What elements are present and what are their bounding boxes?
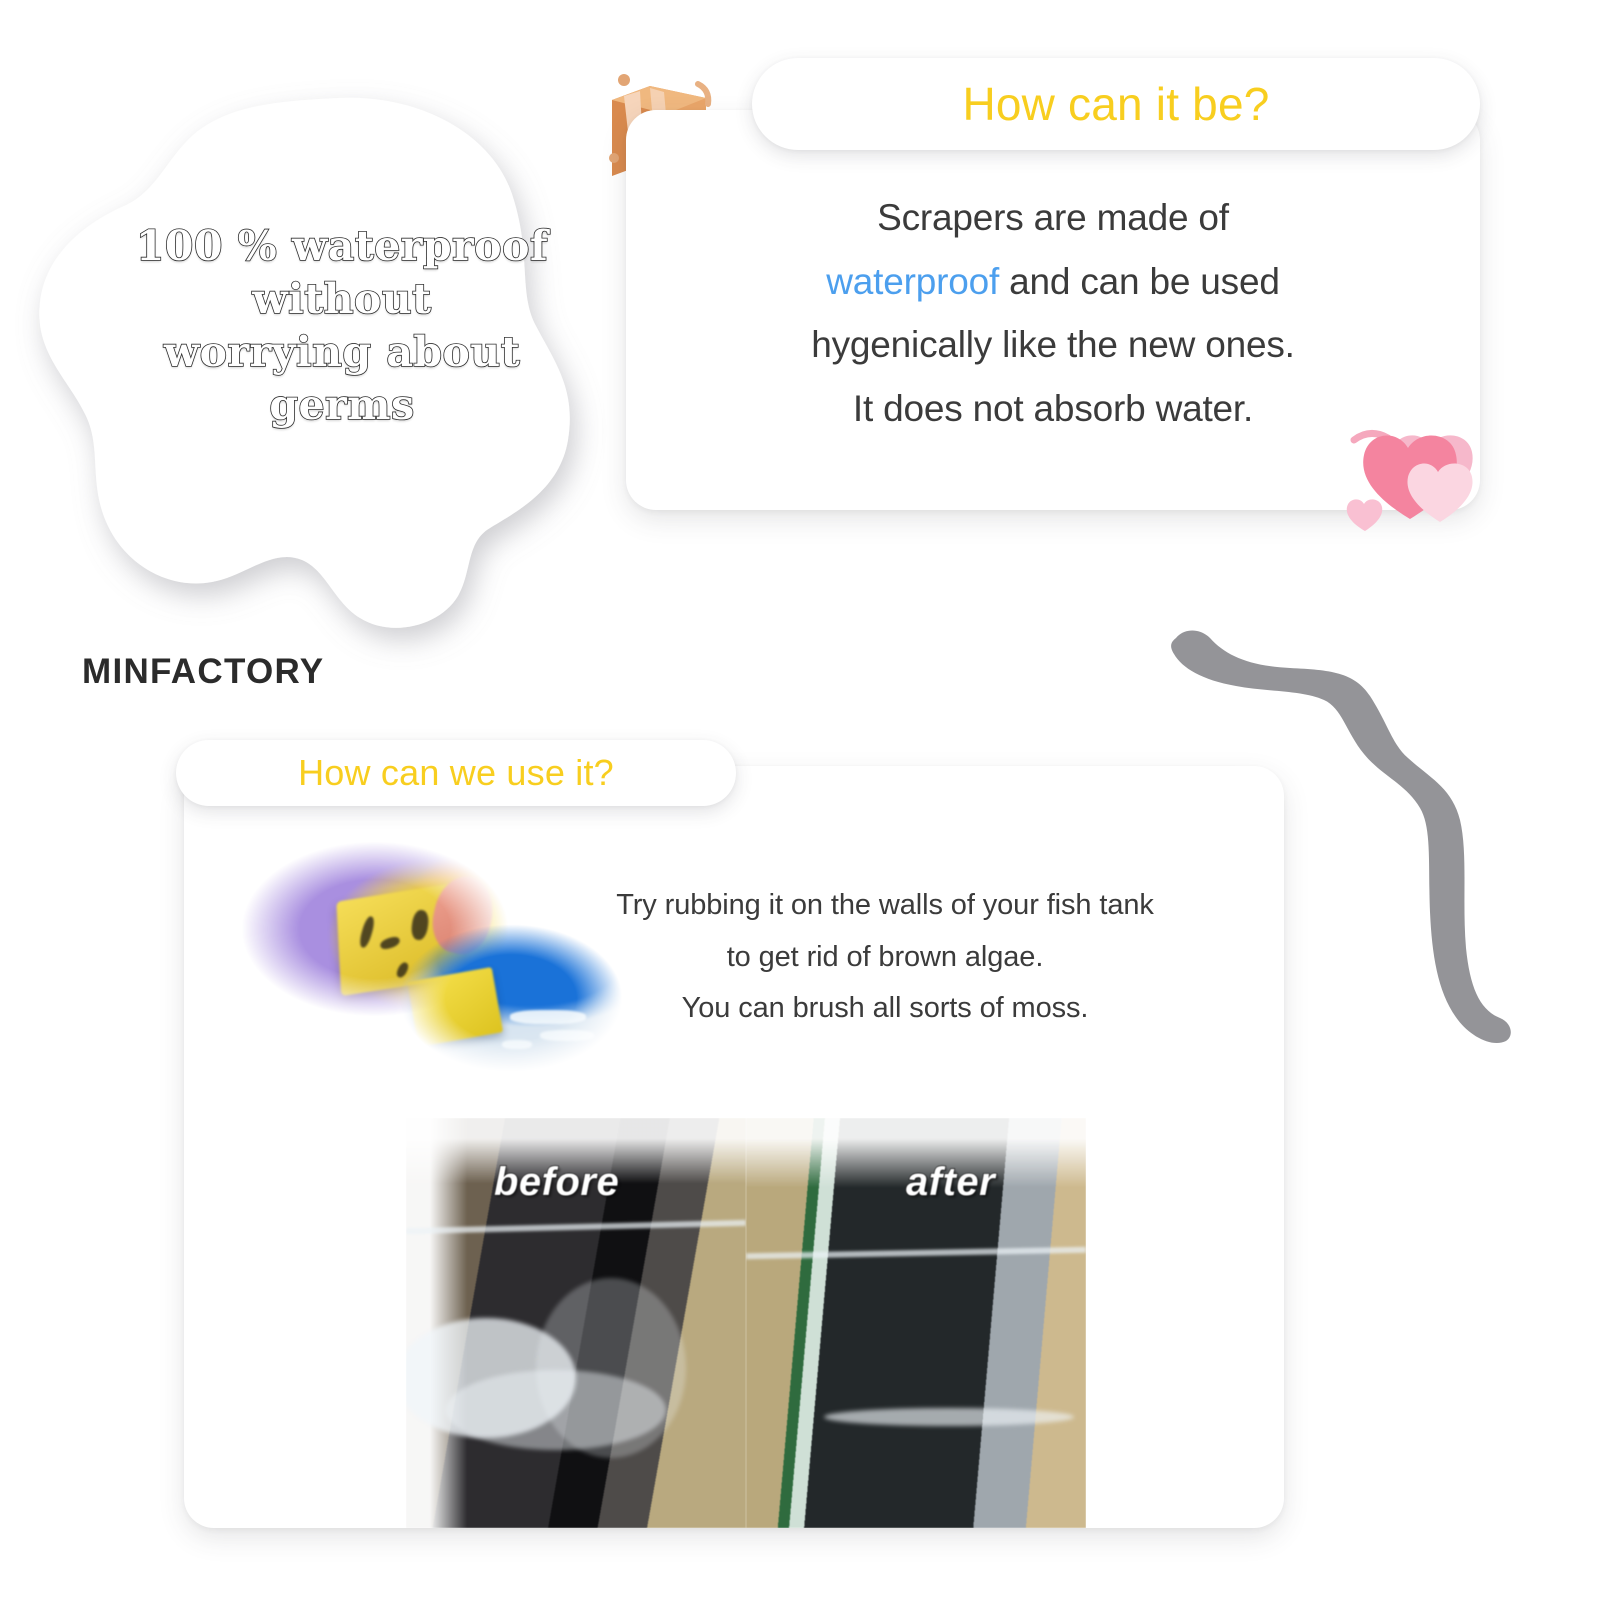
how-can-we-use-body: Try rubbing it on the walls of your fish…	[560, 880, 1210, 1035]
page-root: 100 % waterproof without worrying about …	[0, 0, 1600, 1600]
waterproof-blob: 100 % waterproof without worrying about …	[20, 90, 660, 650]
use-line-2: to get rid of brown algae.	[560, 932, 1210, 984]
body-line-2-rest: and can be used	[999, 261, 1280, 302]
before-after-comparison: before after	[406, 1118, 1086, 1528]
body-line-3: hygenically like the new ones.	[626, 313, 1480, 377]
after-label: after	[906, 1160, 995, 1205]
use-line-3: You can brush all sorts of moss.	[560, 983, 1210, 1035]
body-line-2: waterproof and can be used	[626, 250, 1480, 314]
how-can-it-be-pill: How can it be?	[752, 58, 1480, 150]
blob-headline: 100 % waterproof without worrying about …	[92, 220, 592, 432]
use-line-1: Try rubbing it on the walls of your fish…	[560, 880, 1210, 932]
how-can-we-use-pill: How can we use it?	[176, 740, 736, 806]
brand-label: MINFACTORY	[82, 652, 324, 692]
water-line	[406, 1220, 746, 1234]
water-line	[746, 1247, 1086, 1260]
after-photo: after	[746, 1118, 1086, 1528]
algae-grime	[536, 1278, 686, 1458]
gravel-line	[824, 1408, 1074, 1426]
body-line-1: Scrapers are made of	[626, 186, 1480, 250]
waterproof-highlight: waterproof	[826, 261, 999, 302]
before-photo: before	[406, 1118, 746, 1528]
how-can-it-be-pill-label: How can it be?	[962, 77, 1269, 131]
how-can-it-be-body: Scrapers are made of waterproof and can …	[626, 186, 1480, 441]
two-hearts-icon	[1338, 418, 1488, 530]
how-can-we-use-pill-label: How can we use it?	[298, 752, 614, 794]
water-fleck	[502, 1040, 532, 1049]
yellow-scraper-chip	[407, 967, 503, 1047]
before-label: before	[494, 1160, 619, 1205]
